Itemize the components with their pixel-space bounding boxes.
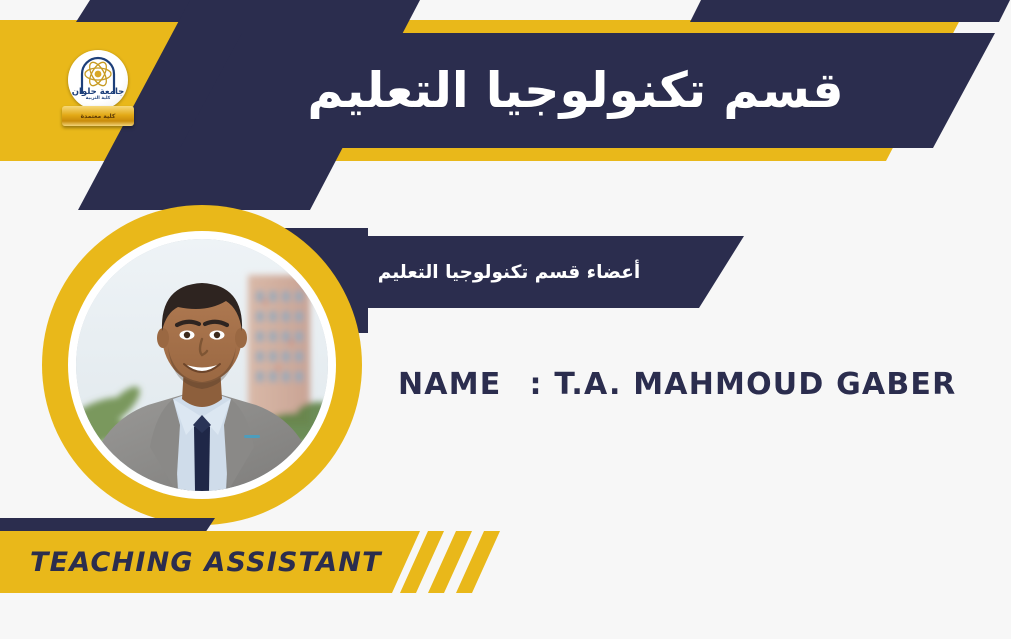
member-name-line: NAME : T.A. MAHMOUD GABER (398, 360, 956, 408)
name-label: NAME (398, 367, 501, 402)
helwan-university-seal-icon: جامعة حلوان كلية التربية كلية معتمدة (62, 50, 134, 138)
name-value: : T.A. MAHMOUD GABER (529, 367, 956, 402)
faculty-member-card: قسم تكنولوجيا التعليم جامعة حلوان كلية ا… (0, 0, 1011, 639)
portrait-illustration (76, 239, 328, 491)
logo-ribbon-label: كلية معتمدة (81, 113, 116, 120)
logo-faculty-name: كلية التربية (68, 97, 128, 102)
header-navy-top-sliver (690, 0, 1010, 22)
page-title: قسم تكنولوجيا التعليم (180, 33, 995, 148)
avatar (76, 239, 328, 491)
logo-accreditation-ribbon: كلية معتمدة (62, 106, 134, 126)
status-badge: TEACHING ASSISTANT (30, 531, 382, 593)
